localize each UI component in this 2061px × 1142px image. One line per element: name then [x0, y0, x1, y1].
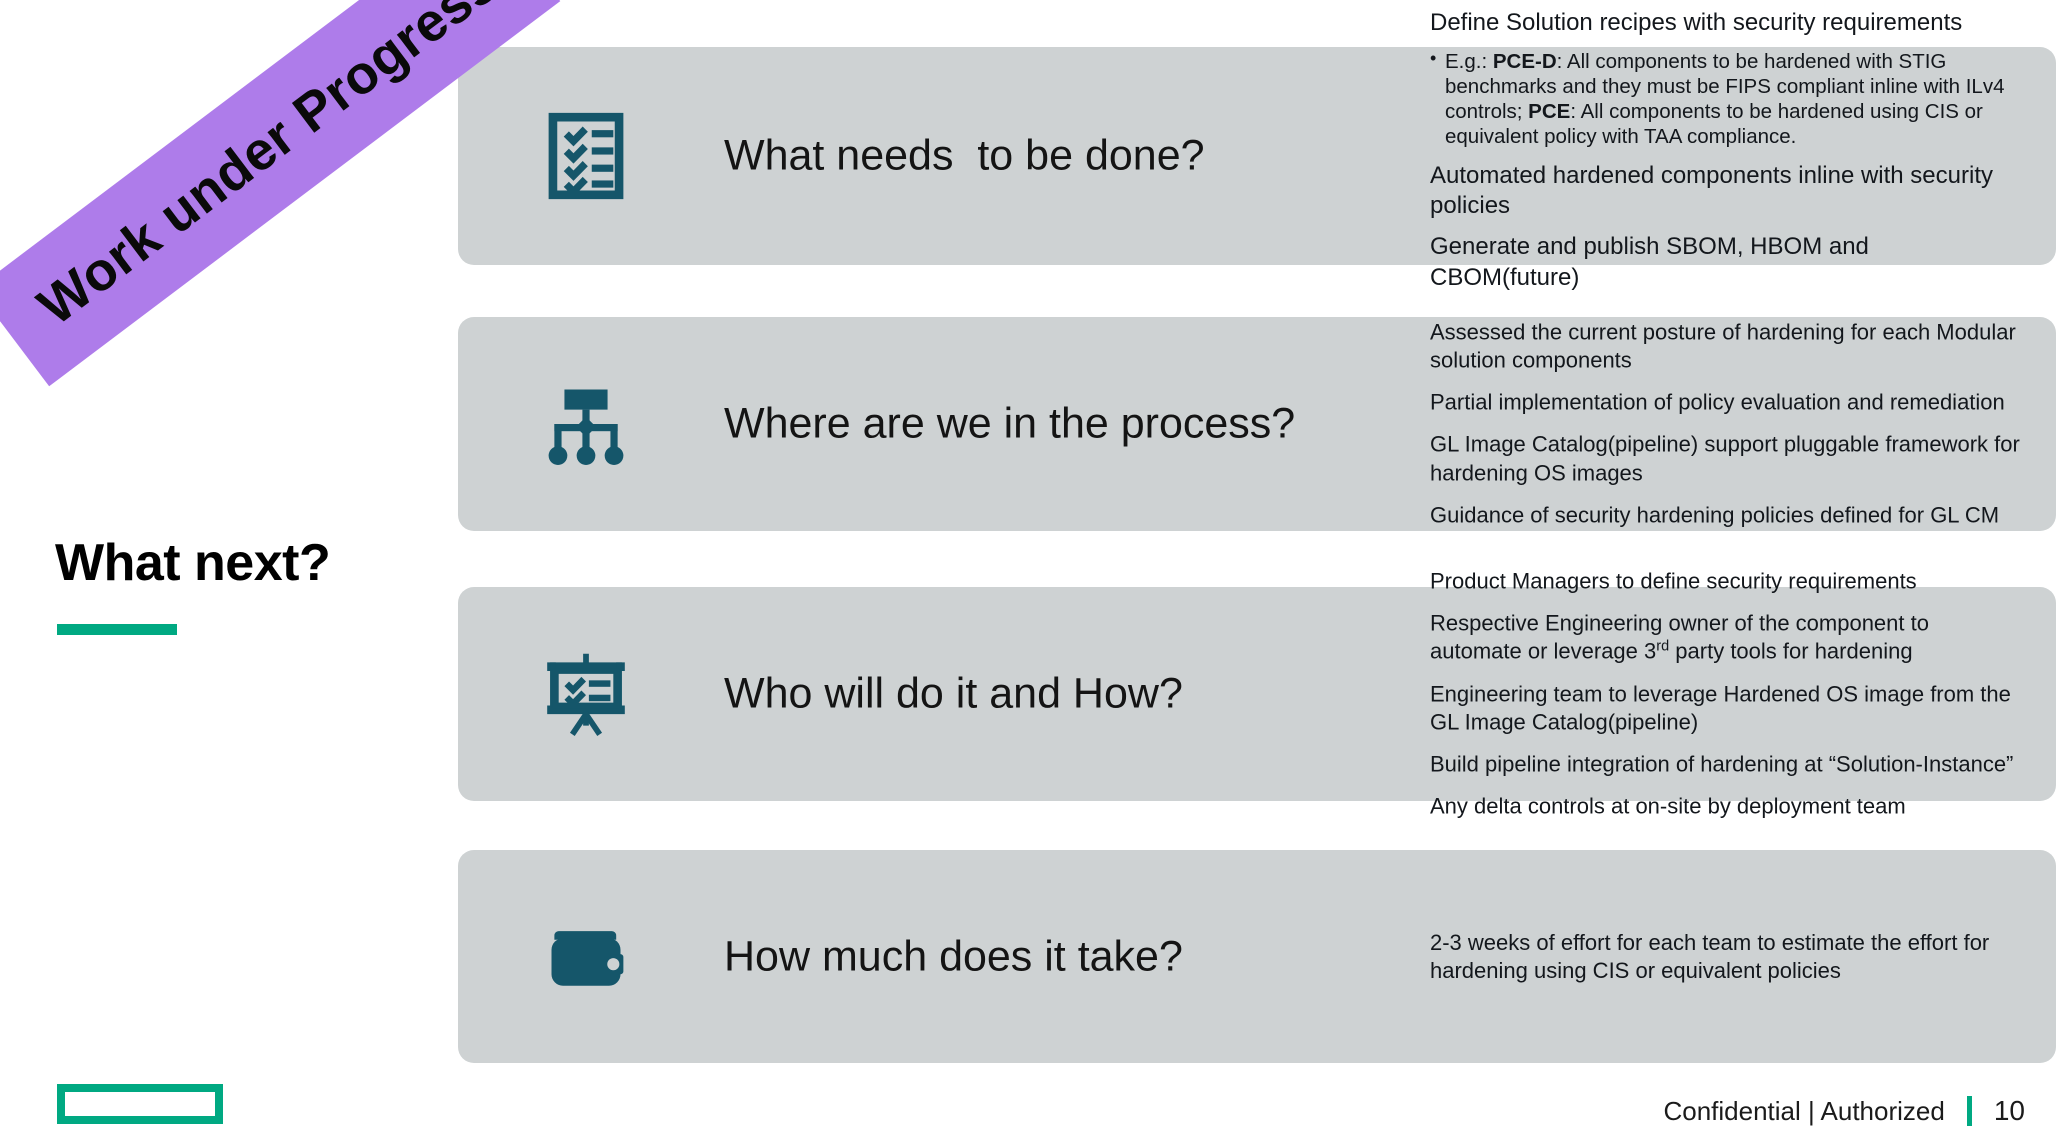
card-heading: How much does it take? — [724, 932, 1183, 981]
card-body-line: Generate and publish SBOM, HBOM and CBOM… — [1430, 232, 2022, 293]
card-who-will-do-it-and-how[interactable]: Who will do it and How? Product Managers… — [458, 587, 2056, 801]
wallet-icon — [536, 907, 636, 1007]
card-body-line: GL Image Catalog(pipeline) support plugg… — [1430, 431, 2022, 487]
card-body: Assessed the current posture of hardenin… — [1430, 319, 2022, 530]
card-body: 2-3 weeks of effort for each team to est… — [1430, 928, 2022, 984]
title-accent-rule — [57, 624, 177, 635]
card-heading: Where are we in the process? — [724, 400, 1295, 449]
org-chart-icon — [536, 374, 636, 474]
card-what-needs-to-be-done[interactable]: What needs to be done? Define Solution r… — [458, 47, 2056, 265]
card-body: Product Managers to define security requ… — [1430, 567, 2022, 820]
card-body-line: Build pipeline integration of hardening … — [1430, 750, 2022, 778]
classification-label: Confidential | Authorized — [1663, 1096, 1944, 1127]
hpe-logo — [57, 1084, 223, 1124]
card-where-are-we-in-the-process[interactable]: Where are we in the process? Assessed th… — [458, 317, 2056, 531]
footer: Confidential | Authorized 10 — [1663, 1095, 2025, 1127]
card-body-line: Respective Engineering owner of the comp… — [1430, 609, 2022, 666]
card-body: Define Solution recipes with security re… — [1430, 8, 2022, 304]
card-heading: Who will do it and How? — [724, 670, 1183, 719]
card-body-line: Assessed the current posture of hardenin… — [1430, 319, 2022, 375]
card-body-line: 2-3 weeks of effort for each team to est… — [1430, 928, 2022, 984]
footer-separator — [1967, 1096, 1972, 1126]
card-body-line: Product Managers to define security requ… — [1430, 567, 2022, 595]
card-body-line: Engineering team to leverage Hardened OS… — [1430, 680, 2022, 736]
card-body-line: E.g.: PCE-D: All components to be harden… — [1430, 49, 2022, 149]
page-title: What next? — [55, 533, 330, 593]
card-body-line: Guidance of security hardening policies … — [1430, 501, 2022, 529]
card-body-line: Any delta controls at on-site by deploym… — [1430, 793, 2022, 821]
page-number: 10 — [1994, 1095, 2025, 1127]
card-heading: What needs to be done? — [724, 132, 1205, 181]
checklist-clipboard-icon — [536, 106, 636, 206]
card-body-line: Define Solution recipes with security re… — [1430, 8, 2022, 39]
card-body-line: Partial implementation of policy evaluat… — [1430, 389, 2022, 417]
presentation-board-icon — [536, 644, 636, 744]
card-body-line: Automated hardened components inline wit… — [1430, 161, 2022, 222]
card-how-much-does-it-take[interactable]: How much does it take? 2-3 weeks of effo… — [458, 850, 2056, 1063]
